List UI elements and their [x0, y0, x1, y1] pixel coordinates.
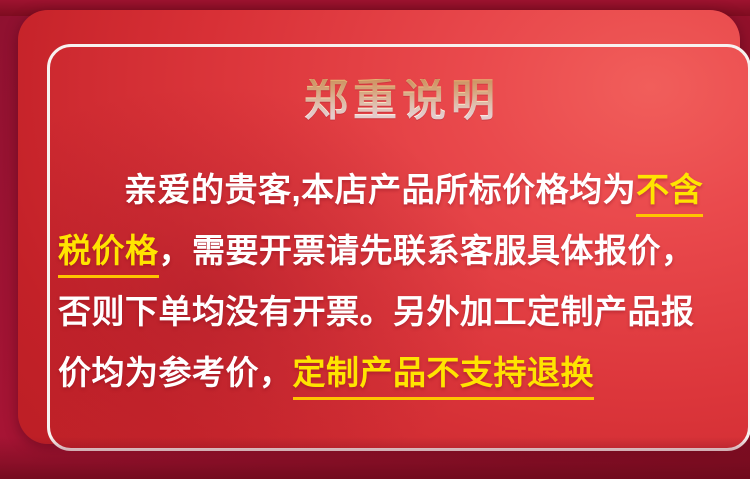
notice-line-1: 亲爱的贵客,本店产品所标价格均为不含 — [58, 159, 746, 220]
notice-body: 亲爱的贵客,本店产品所标价格均为不含 税价格，需要开票请先联系客服具体报价， 否… — [58, 159, 746, 403]
notice-line-1-segment-1-highlight: 不含 — [636, 171, 703, 217]
panel-outer-card: 郑重说明 亲爱的贵客,本店产品所标价格均为不含 税价格，需要开票请先联系客服具体… — [18, 10, 740, 444]
promo-banner: 郑重说明 亲爱的贵客,本店产品所标价格均为不含 税价格，需要开票请先联系客服具体… — [0, 0, 750, 479]
page-title: 郑重说明 — [50, 79, 750, 123]
notice-line-2-segment-0-highlight: 税价格 — [58, 232, 159, 278]
notice-line-3: 否则下单均没有开票。另外加工定制产品报 — [58, 281, 746, 342]
notice-line-4-segment-0: 价均为参考价， — [58, 354, 293, 391]
notice-line-2-segment-1: ，需要开票请先联系客服具体报价， — [159, 232, 695, 269]
notice-line-3-segment-0: 否则下单均没有开票。另外加工定制产品报 — [58, 293, 695, 330]
notice-line-1-segment-0: 亲爱的贵客,本店产品所标价格均为 — [124, 171, 636, 208]
notice-line-4-segment-1-highlight: 定制产品不支持退换 — [293, 354, 595, 400]
panel-content: 郑重说明 亲爱的贵客,本店产品所标价格均为不含 税价格，需要开票请先联系客服具体… — [50, 47, 750, 451]
notice-line-2: 税价格，需要开票请先联系客服具体报价， — [58, 220, 746, 281]
panel-inner-frame: 郑重说明 亲爱的贵客,本店产品所标价格均为不含 税价格，需要开票请先联系客服具体… — [47, 44, 750, 451]
notice-line-4: 价均为参考价，定制产品不支持退换 — [58, 342, 746, 403]
